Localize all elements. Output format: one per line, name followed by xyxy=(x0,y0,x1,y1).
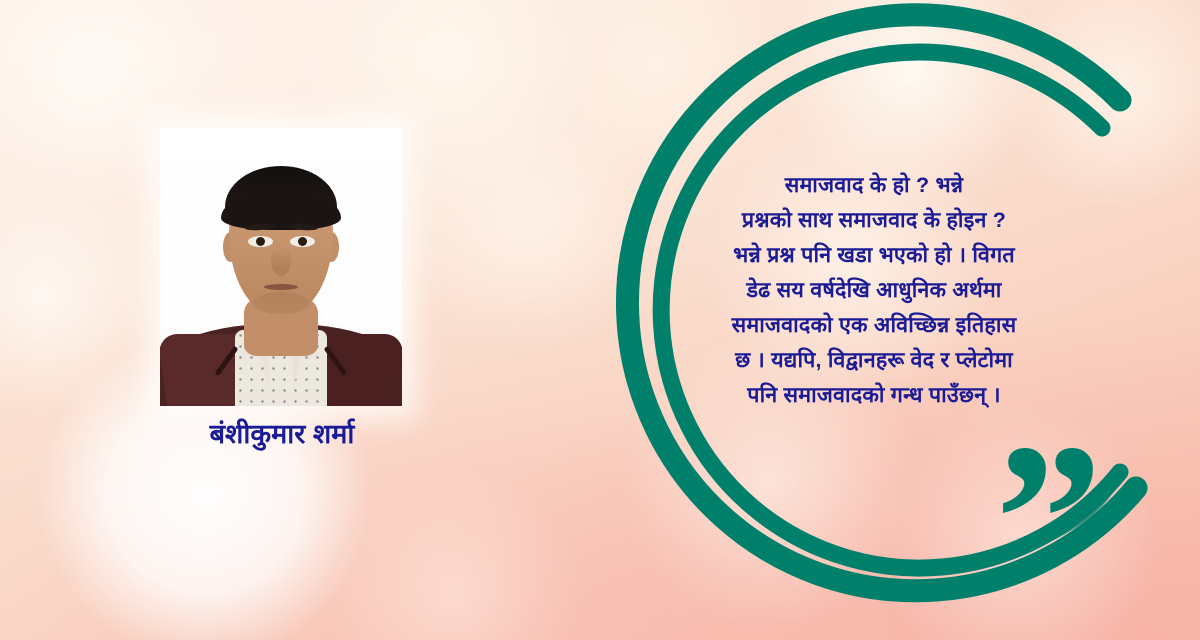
quote-line-3: भन्ने प्रश्न पनि खडा भएको हो । विगत xyxy=(648,238,1100,273)
quote-card-canvas: बंशीकुमार शर्मा समाजवाद के हो ? भन्ने प्… xyxy=(0,0,1200,640)
quote-line-2: प्रश्नको साथ समाजवाद के होइन ? xyxy=(648,203,1100,238)
portrait-image xyxy=(160,128,402,406)
portrait-name-caption: बंशीकुमार शर्मा xyxy=(160,418,404,450)
quote-line-4: डेढ सय वर्षदेखि आधुनिक अर्थमा xyxy=(648,273,1100,308)
quote-line-6: छ । यद्यपि, विद्वानहरू वेद र प्लेटोमा xyxy=(648,343,1100,378)
quote-text: समाजवाद के हो ? भन्ने प्रश्नको साथ समाजव… xyxy=(648,168,1100,413)
quote-line-5: समाजवादको एक अविच्छिन्न इतिहास xyxy=(648,308,1100,343)
quote-line-1: समाजवाद के हो ? भन्ने xyxy=(648,168,1100,203)
closing-quote-icon: ” xyxy=(995,452,1135,582)
portrait-photo xyxy=(160,128,402,406)
